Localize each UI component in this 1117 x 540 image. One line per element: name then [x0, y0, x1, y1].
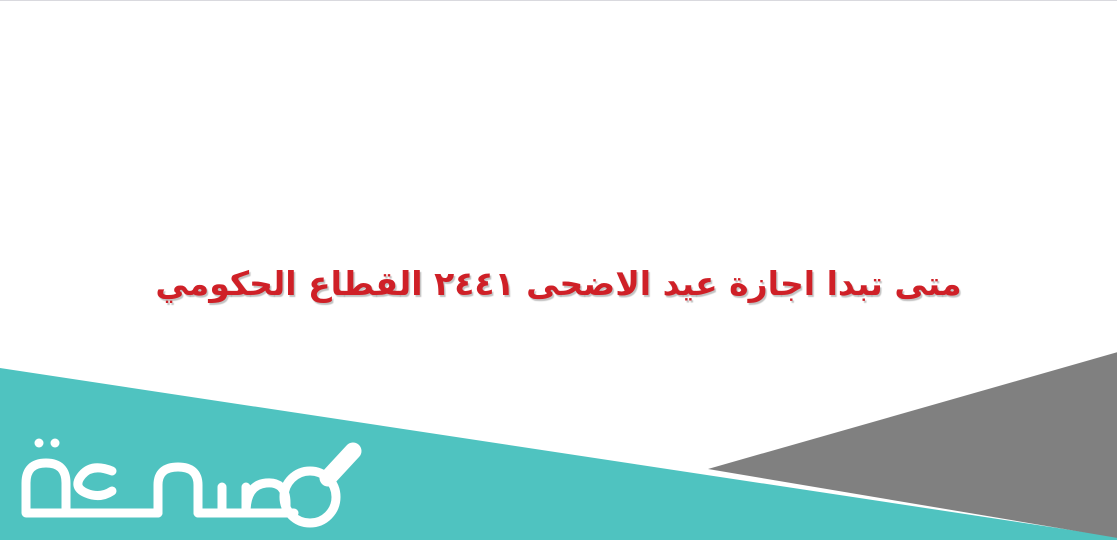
logo-letter-seen: [198, 487, 246, 513]
brand-logo-mark: [8, 425, 368, 537]
brand-logo[interactable]: موسوعة: [8, 425, 368, 537]
article-banner: متى تبدا اجازة عيد الاضحى ١٤٤٢ القطاع ال…: [0, 0, 1117, 540]
logo-letter-ta-marbuta: [26, 463, 66, 513]
logo-magnifier-handle: [328, 451, 353, 478]
logo-letter-waw-1: [158, 467, 198, 513]
page-title: متى تبدا اجازة عيد الاضحى ١٤٤٢ القطاع ال…: [155, 263, 961, 304]
logo-ta-marbuta-dots: [35, 439, 60, 448]
headline-container: متى تبدا اجازة عيد الاضحى ١٤٤٢ القطاع ال…: [0, 241, 1117, 326]
logo-letter-ain: [78, 468, 112, 496]
